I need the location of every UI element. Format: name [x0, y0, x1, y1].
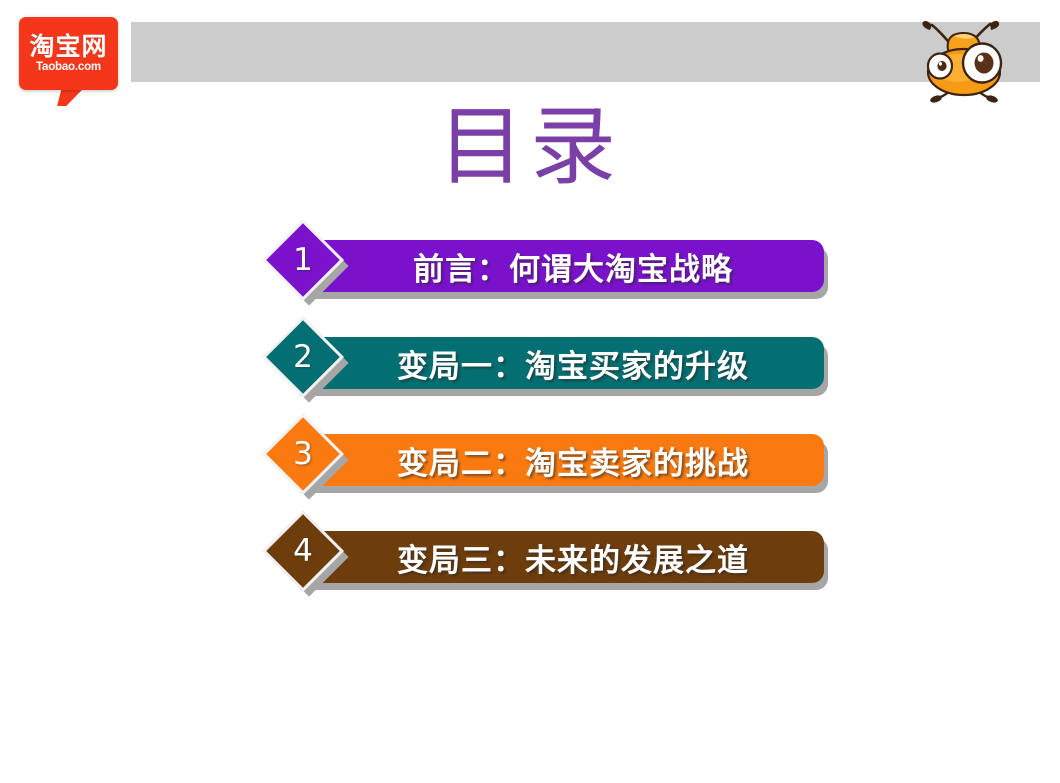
- agenda-number-3: 3: [277, 428, 329, 480]
- agenda-list: 前言：何谓大淘宝战略 1 变局一：淘宝买家的升级 2 变局二：淘宝卖家的挑战: [0, 228, 1060, 616]
- agenda-label-2: 变局一：淘宝买家的升级: [371, 341, 749, 386]
- logo-english-text: Taobao.com: [36, 61, 101, 73]
- agenda-item-1[interactable]: 前言：何谓大淘宝战略 1: [0, 228, 1060, 325]
- agenda-label-4: 变局三：未来的发展之道: [371, 535, 749, 580]
- agenda-bar-4[interactable]: 变局三：未来的发展之道: [296, 531, 824, 583]
- agenda-item-4[interactable]: 变局三：未来的发展之道 4: [0, 519, 1060, 616]
- slide-title: 目录: [0, 104, 1060, 190]
- agenda-bar-1[interactable]: 前言：何谓大淘宝战略: [296, 240, 824, 292]
- agenda-bar-3[interactable]: 变局二：淘宝卖家的挑战: [296, 434, 824, 486]
- agenda-number-2: 2: [277, 331, 329, 383]
- ant-mascot-icon: [908, 8, 1020, 108]
- agenda-label-1: 前言：何谓大淘宝战略: [387, 244, 733, 289]
- logo-chinese-text: 淘宝网: [29, 34, 107, 60]
- agenda-number-4: 4: [277, 525, 329, 577]
- agenda-item-3[interactable]: 变局二：淘宝卖家的挑战 3: [0, 422, 1060, 519]
- presentation-slide: 淘宝网 Taobao.com: [0, 0, 1060, 783]
- agenda-label-3: 变局二：淘宝卖家的挑战: [371, 438, 749, 483]
- agenda-number-1: 1: [277, 234, 329, 286]
- taobao-logo[interactable]: 淘宝网 Taobao.com: [19, 17, 118, 90]
- header-band: [131, 22, 1040, 82]
- agenda-bar-2[interactable]: 变局一：淘宝买家的升级: [296, 337, 824, 389]
- agenda-item-2[interactable]: 变局一：淘宝买家的升级 2: [0, 325, 1060, 422]
